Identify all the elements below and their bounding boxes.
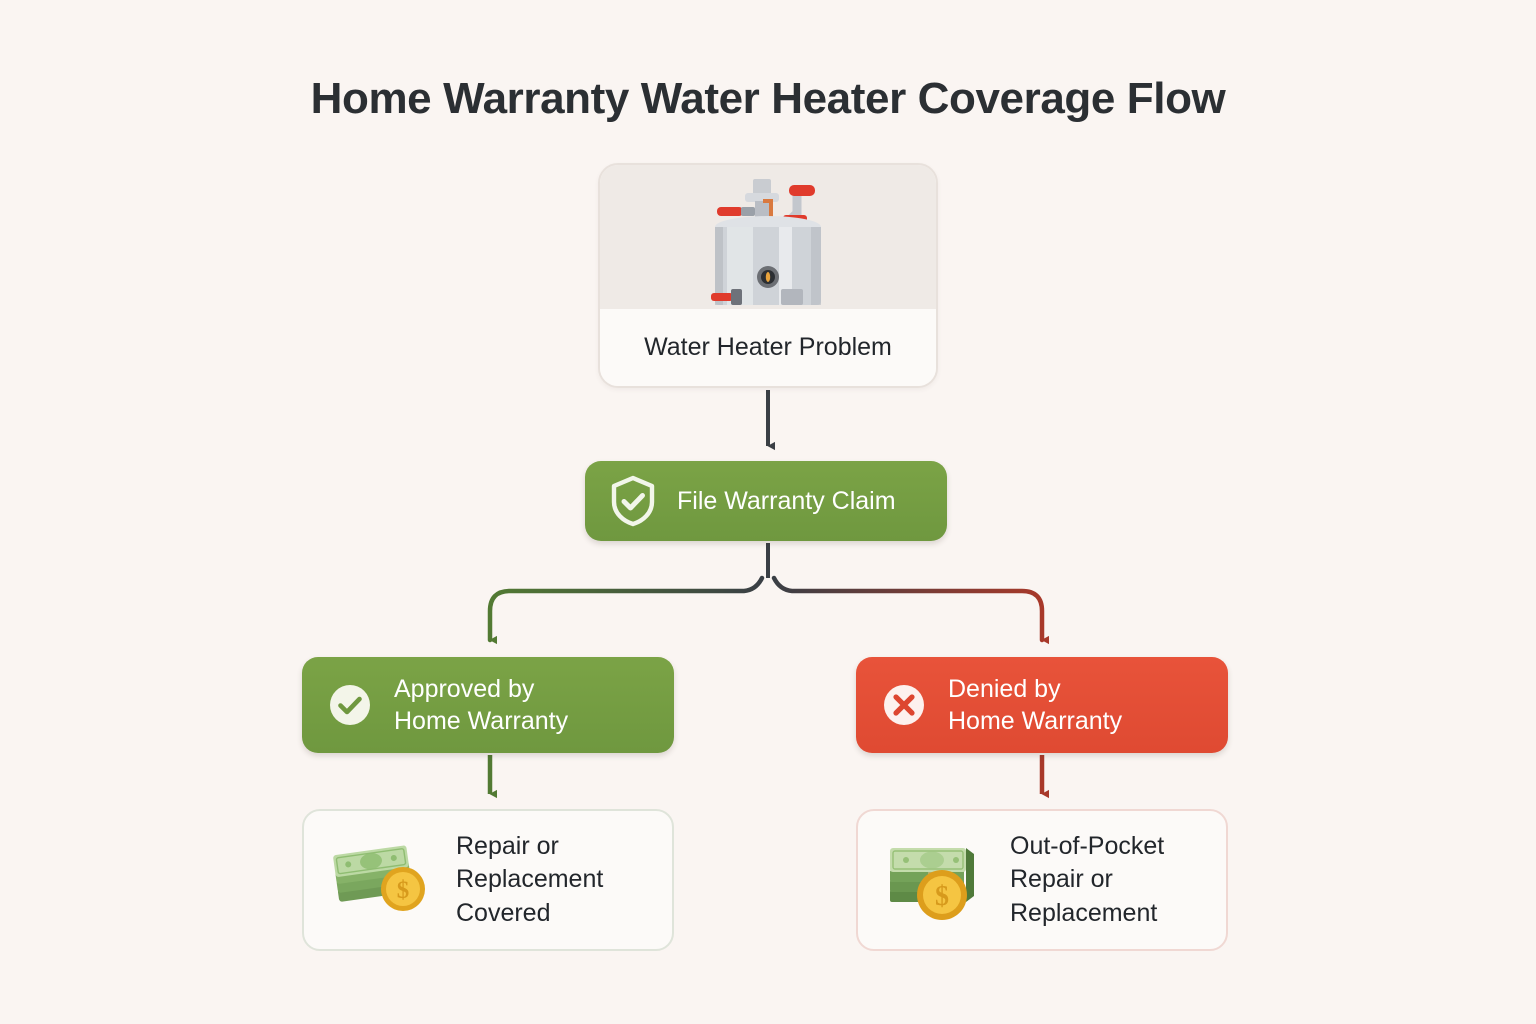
node-out-of-pocket-repair-or-replacement[interactable]: $ Out-of-Pocket Repair or Replacement	[856, 809, 1228, 951]
node-water-heater-problem[interactable]: Water Heater Problem	[598, 163, 938, 388]
shield-check-icon	[609, 475, 657, 527]
x-circle-icon	[882, 683, 926, 727]
page-title: Home Warranty Water Heater Coverage Flow	[0, 74, 1536, 124]
node-denied-by-home-warranty[interactable]: Denied by Home Warranty	[856, 657, 1228, 753]
out-of-pocket-label: Out-of-Pocket Repair or Replacement	[1010, 830, 1164, 930]
money-stack-icon: $	[322, 837, 440, 923]
node-file-warranty-claim[interactable]: File Warranty Claim	[585, 461, 947, 541]
svg-text:$: $	[397, 877, 410, 904]
money-stack-icon: $	[876, 834, 994, 926]
node-approved-by-home-warranty[interactable]: Approved by Home Warranty	[302, 657, 674, 753]
flowchart-canvas: Home Warranty Water Heater Coverage Flow	[0, 0, 1536, 1024]
node-repair-or-replacement-covered[interactable]: $ Repair or Replacement Covered	[302, 809, 674, 951]
check-circle-icon	[328, 683, 372, 727]
denied-label: Denied by Home Warranty	[948, 673, 1122, 737]
water-heater-illustration-icon	[693, 173, 843, 313]
claim-label: File Warranty Claim	[677, 485, 896, 517]
approved-label: Approved by Home Warranty	[394, 673, 568, 737]
svg-text:$: $	[935, 881, 949, 912]
problem-label: Water Heater Problem	[600, 309, 936, 386]
connector-claim-to-denied	[774, 578, 1042, 640]
problem-image-area	[600, 165, 936, 313]
covered-label: Repair or Replacement Covered	[456, 830, 603, 930]
connector-claim-to-approved	[490, 578, 762, 640]
